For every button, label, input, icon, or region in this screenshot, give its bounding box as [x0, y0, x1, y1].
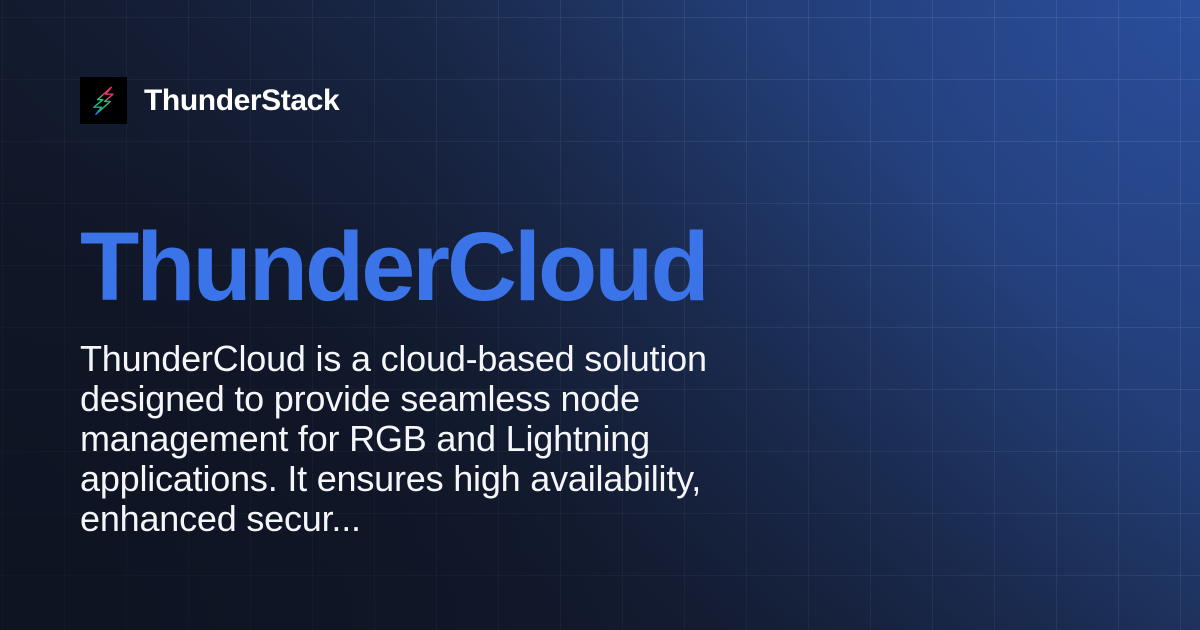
page-title: ThunderCloud: [80, 218, 1120, 315]
card-content: ThunderStack ThunderCloud ThunderCloud i…: [0, 0, 1200, 630]
brand-logo: [80, 77, 127, 124]
og-card: ThunderStack ThunderCloud ThunderCloud i…: [0, 0, 1200, 630]
brand-name: ThunderStack: [144, 86, 339, 116]
lightning-bolt-icon: [87, 84, 120, 117]
brand: ThunderStack: [80, 77, 1120, 124]
page-description: ThunderCloud is a cloud-based solution d…: [80, 339, 780, 539]
